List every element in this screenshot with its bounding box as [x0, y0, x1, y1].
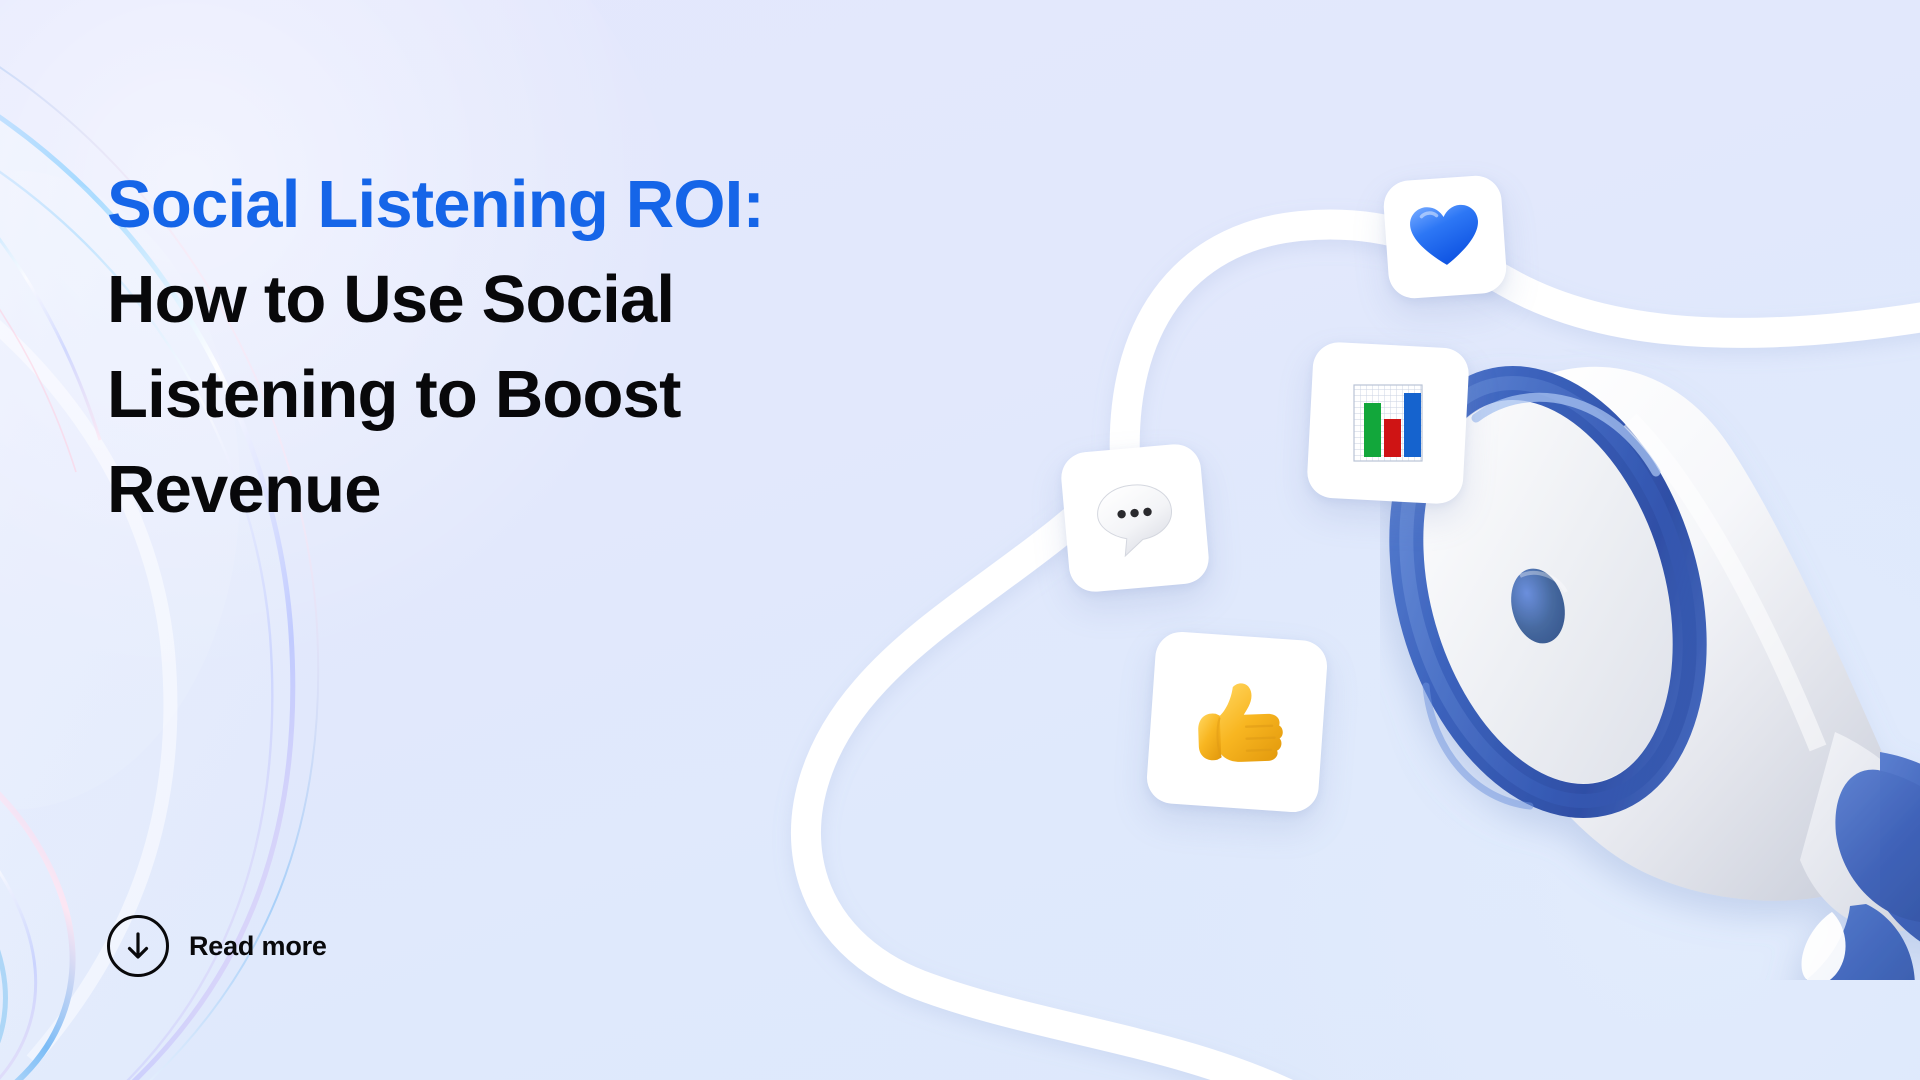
title-line-3: Revenue — [107, 442, 987, 537]
arrow-down-circle-icon[interactable] — [107, 915, 169, 977]
title-accent-line: Social Listening ROI: — [107, 157, 987, 252]
thumbs-up-card — [1145, 630, 1329, 814]
page-title: Social Listening ROI: How to Use Social … — [107, 157, 987, 537]
title-line-2: Listening to Boost — [107, 347, 987, 442]
blue-heart-emoji — [1407, 199, 1484, 276]
speech-balloon-card — [1059, 442, 1211, 594]
title-line-1: How to Use Social — [107, 252, 987, 347]
bar-chart-card — [1306, 341, 1470, 505]
speech-balloon-emoji — [1088, 471, 1181, 564]
read-more-button[interactable]: Read more — [107, 915, 327, 977]
bar-chart-emoji — [1340, 375, 1437, 472]
blue-heart-card — [1382, 174, 1508, 300]
thumbs-up-emoji — [1178, 663, 1295, 780]
read-more-label: Read more — [189, 931, 327, 962]
promo-banner: Social Listening ROI: How to Use Social … — [0, 0, 1920, 1080]
